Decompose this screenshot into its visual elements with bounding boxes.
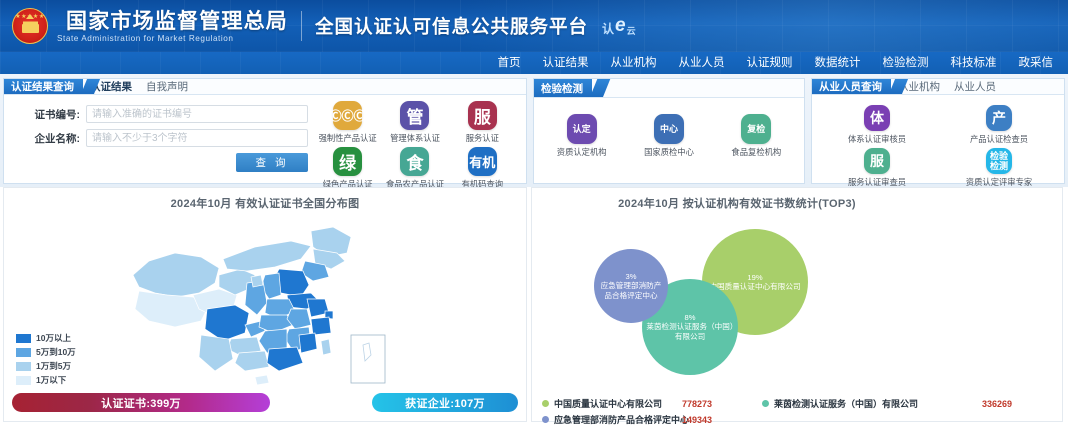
nav-item-0[interactable]: 首页 [487,52,532,74]
bubble-legend-value-0: 778273 [682,399,762,409]
cert-number-input[interactable] [86,105,308,123]
rending-icon[interactable]: 认定 [567,114,597,144]
cert-icon-guan-label: 管理体系认证 [390,132,440,144]
legend-swatch-0 [16,334,31,343]
nav-item-8[interactable]: 政采信 [1008,52,1065,74]
legend-label-3: 1万以下 [36,374,66,386]
bubble-1-label: 莱茵检测认证服务（中国）有限公司 [646,322,733,340]
cert-icon-ccc-label: 强制性产品认证 [319,132,377,144]
nav-item-2[interactable]: 从业机构 [600,52,668,74]
chart-top3-bubble: 2024年10月 按认证机构有效证书数统计(TOP3) 19% 中国质量认证中心… [531,187,1063,422]
cert-category-icons: ⒸⒸⒸ 强制性产品认证 管 管理体系认证 服 服务认证 绿 绿色产品认证 [308,101,522,193]
map-legend-row-3: 1万以下 [16,374,76,386]
lv-icon[interactable]: 绿 [333,147,362,176]
bubble-legend: 中国质量认证中心有限公司 778273 莱茵检测认证服务（中国）有限公司 336… [532,397,1062,426]
map-legend-row-0: 10万以上 [16,332,76,344]
tab-practitioner-query[interactable]: 从业人员查询 [812,79,891,94]
org-name-cn: 国家市场监督管理总局 [66,10,288,33]
inspection-icon-zhongxin[interactable]: 中心 国家质检中心 [644,114,694,158]
bubble-legend-dot-0 [542,400,549,407]
chan-icon[interactable]: 产 [986,105,1012,131]
nav-item-1[interactable]: 认证结果 [532,52,600,74]
ccc-icon[interactable]: ⒸⒸⒸ [333,101,362,130]
inspection-icon-rending-label: 资质认定机构 [557,146,607,158]
bubble-legend-value-1: 336269 [942,399,1012,409]
company-name-label: 企业名称: [18,131,80,146]
panel-cert-query: 认证结果查询 认证结果 自我声明 证书编号: 企业名称: 查 询 [3,78,527,184]
panel-practitioner: 从业人员查询 从业机构 从业人员 体 体系认证审核员 产 产品认证检查员 服 [811,78,1065,184]
china-map-wrap: 10万以上 5万到10万 1万到5万 1万以下 [4,211,526,391]
bubble-0-percent: 19% [709,273,800,282]
legend-swatch-1 [16,348,31,357]
china-map-icon [115,213,415,388]
cert-number-row: 证书编号: [18,105,308,123]
fuwu-icon[interactable]: 服 [864,148,890,174]
platform-title: 全国认证认可信息公共服务平台 [315,13,588,39]
nav-item-6[interactable]: 检验检测 [872,52,940,74]
practitioner-icon-ti-label: 体系认证审核员 [848,133,906,145]
cert-query-tabbar[interactable]: 认证结果查询 认证结果 自我声明 [4,79,526,95]
org-name-en: State Administration for Market Regulati… [57,34,288,43]
bubble-legend-item-1[interactable]: 莱茵检测认证服务（中国）有限公司 [762,397,942,410]
bubble-legend-dot-2 [542,416,549,423]
ti-icon[interactable]: 体 [864,105,890,131]
bubble-legend-item-2[interactable]: 应急管理部消防产品合格评定中心 [542,413,682,426]
summary-pill-certificates: 认证证书:399万 [12,393,270,412]
practitioner-icon-jianyan[interactable]: 检验检测 资质认定评审专家 [938,148,1060,191]
subtab-practitioner-person[interactable]: 从业人员 [947,79,1003,94]
tab-inspection-testing[interactable]: 检验检测 [534,79,592,97]
cert-icon-fu[interactable]: 服 服务认证 [449,101,516,147]
shi-icon[interactable]: 食 [400,147,429,176]
bubble-legend-grid: 中国质量认证中心有限公司 778273 莱茵检测认证服务（中国）有限公司 336… [542,397,1052,426]
bubble-yingji-guanli[interactable]: 3% 应急管理部消防产品合格评定中心 [594,249,668,323]
bubble-legend-label-1: 莱茵检测认证服务（中国）有限公司 [774,397,918,410]
inspection-body: 认定 资质认定机构 中心 国家质检中心 复检 食品复检机构 [534,98,804,183]
youji-icon[interactable]: 有机 [468,147,497,176]
map-legend-row-2: 1万到5万 [16,360,76,372]
inspection-tabbar[interactable]: 检验检测 [534,79,804,98]
inspection-icon-zhongxin-label: 国家质检中心 [644,146,694,158]
practitioner-icon-ti[interactable]: 体 体系认证审核员 [816,105,938,148]
cert-icon-ccc[interactable]: ⒸⒸⒸ 强制性产品认证 [314,101,381,147]
bubble-legend-dot-1 [762,400,769,407]
practitioner-tabbar[interactable]: 从业人员查询 从业机构 从业人员 [812,79,1064,95]
practitioner-icon-chan-label: 产品认证检查员 [970,133,1028,145]
practitioner-icon-chan[interactable]: 产 产品认证检查员 [938,105,1060,148]
charts-row: 2024年10月 有效认证证书全国分布图 [0,187,1068,425]
bubble-legend-value-2: 149343 [682,415,762,425]
map-chart-title: 2024年10月 有效认证证书全国分布图 [4,188,526,211]
page-root: ★★★★★ 国家市场监督管理总局 State Administration fo… [0,0,1068,426]
practitioner-body: 体 体系认证审核员 产 产品认证检查员 服 服务认证审查员 检验检测 资质认定评… [812,95,1064,193]
guan-icon[interactable]: 管 [400,101,429,130]
chart-cert-distribution-map: 2024年10月 有效认证证书全国分布图 [3,187,527,422]
subtab-self-declaration[interactable]: 自我声明 [139,79,195,94]
company-name-input[interactable] [86,129,308,147]
bubble-plot-area: 19% 中国质量认证中心有限公司 8% 莱茵检测认证服务（中国）有限公司 3% … [532,211,1062,397]
nav-item-5[interactable]: 数据统计 [804,52,872,74]
logo-char-yun: 云 [627,24,636,37]
nav-item-7[interactable]: 科技标准 [940,52,1008,74]
renyun-logo: 认 e 云 [602,15,636,37]
zhongxin-icon[interactable]: 中心 [654,114,684,144]
practitioner-icons: 体 体系认证审核员 产 产品认证检查员 服 服务认证审查员 检验检测 资质认定评… [816,101,1060,191]
bubble-2-percent: 3% [598,272,664,281]
cert-icon-guan[interactable]: 管 管理体系认证 [381,101,448,147]
fu-icon[interactable]: 服 [468,101,497,130]
bubble-chart-title: 2024年10月 按认证机构有效证书数统计(TOP3) [532,188,1062,211]
inspection-icons: 认定 资质认定机构 中心 国家质检中心 复检 食品复检机构 [538,104,800,181]
legend-swatch-2 [16,362,31,371]
bubble-1-percent: 8% [646,313,734,322]
bubble-legend-label-2: 应急管理部消防产品合格评定中心 [554,413,689,426]
cert-icon-fu-label: 服务认证 [466,132,499,144]
bubble-legend-label-0: 中国质量认证中心有限公司 [554,397,662,410]
jianyanjiance-icon[interactable]: 检验检测 [986,148,1012,174]
national-emblem-icon: ★★★★★ [12,8,48,44]
cert-query-body: 证书编号: 企业名称: 查 询 ⒸⒸⒸ 强制性产品认证 [4,95,526,195]
emblem-gate [22,24,39,33]
cert-number-label: 证书编号: [18,107,80,122]
main-nav[interactable]: 首页 认证结果 从业机构 从业人员 认证规则 数据统计 检验检测 科技标准 政采… [0,52,1068,74]
legend-label-1: 5万到10万 [36,346,76,358]
map-legend: 10万以上 5万到10万 1万到5万 1万以下 [16,332,76,388]
inspection-icon-fujian[interactable]: 复检 食品复检机构 [731,114,781,158]
fujian-icon[interactable]: 复检 [741,114,771,144]
map-legend-row-1: 5万到10万 [16,346,76,358]
practitioner-icon-fu[interactable]: 服 服务认证审查员 [816,148,938,191]
map-summary-row: 认证证书:399万 获证企业:107万 [4,393,526,412]
company-name-row: 企业名称: [18,129,308,147]
tab-cert-result-query[interactable]: 认证结果查询 [4,79,83,94]
cert-query-form: 证书编号: 企业名称: 查 询 [8,101,308,193]
bubble-2-label: 应急管理部消防产品合格评定中心 [601,281,662,299]
bubble-0-label: 中国质量认证中心有限公司 [709,282,800,291]
inspection-icon-rending[interactable]: 认定 资质认定机构 [557,114,607,158]
logo-char-e: e [615,15,626,37]
legend-label-2: 1万到5万 [36,360,71,372]
header-divider [301,11,302,41]
logo-char-ren: 认 [602,20,614,37]
query-button[interactable]: 查 询 [236,153,308,172]
panel-inspection: 检验检测 认定 资质认定机构 中心 国家质检中心 复检 食品复检机构 [533,78,805,184]
summary-pill-enterprises: 获证企业:107万 [372,393,518,412]
inspection-icon-fujian-label: 食品复检机构 [731,146,781,158]
bubble-legend-item-0[interactable]: 中国质量认证中心有限公司 [542,397,682,410]
legend-label-0: 10万以上 [36,332,71,344]
quick-query-panels: 认证结果查询 认证结果 自我声明 证书编号: 企业名称: 查 询 [0,74,1068,187]
nav-item-3[interactable]: 从业人员 [668,52,736,74]
legend-swatch-3 [16,376,31,385]
site-header: ★★★★★ 国家市场监督管理总局 State Administration fo… [0,0,1068,52]
cert-query-actions: 查 询 [18,153,308,172]
nav-item-4[interactable]: 认证规则 [736,52,804,74]
